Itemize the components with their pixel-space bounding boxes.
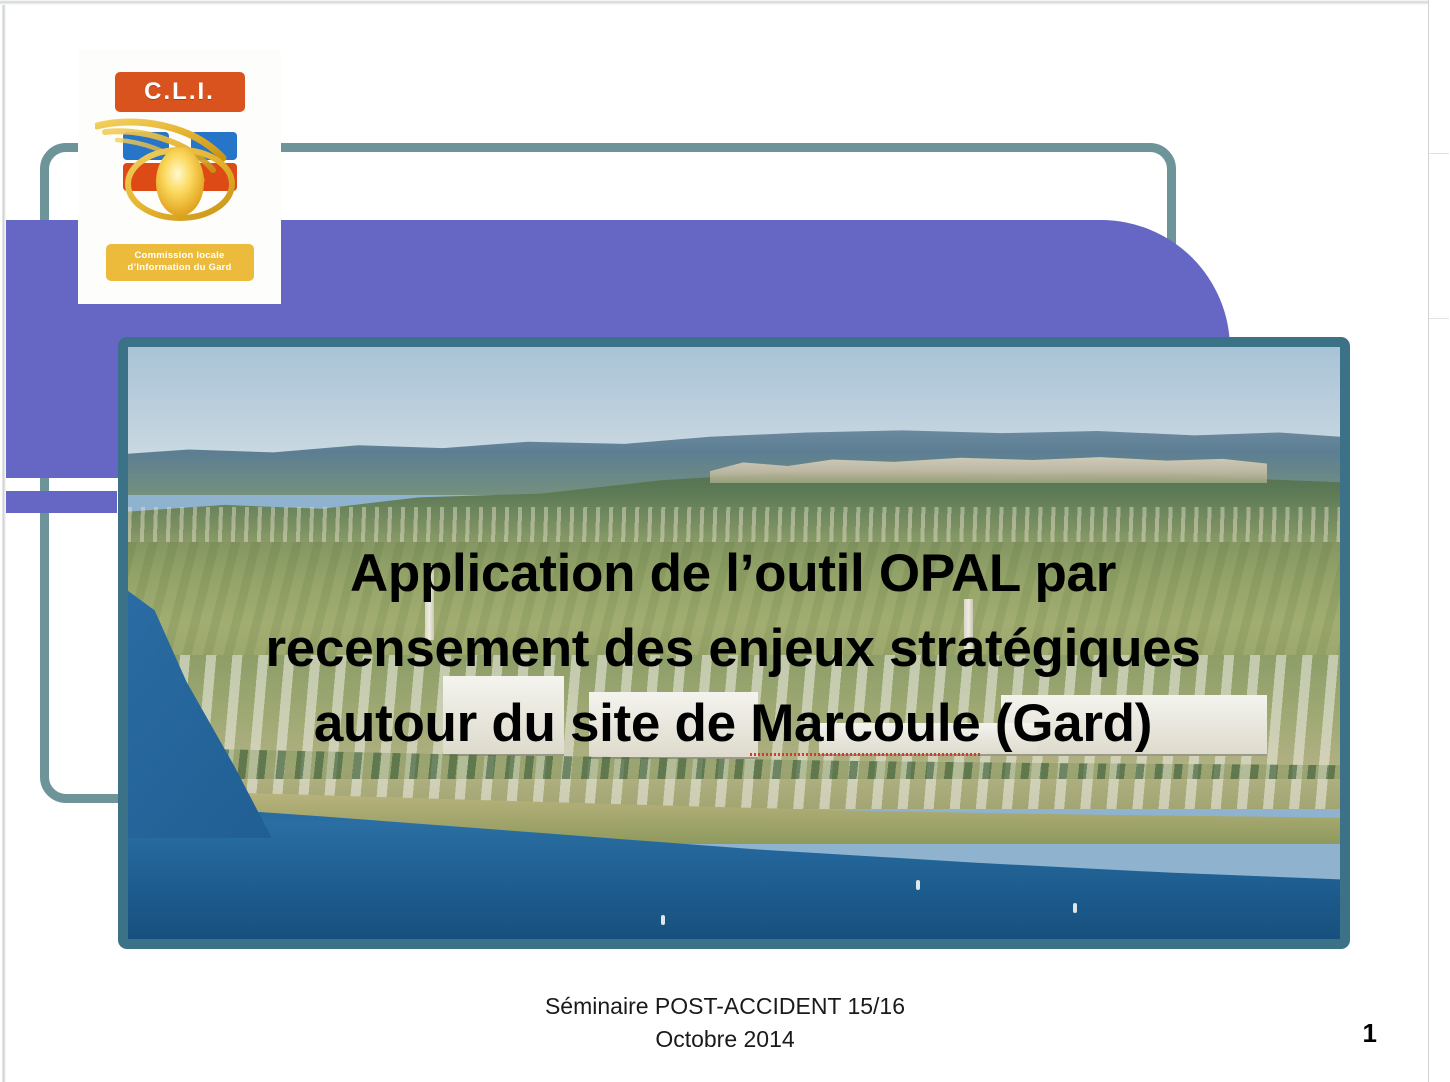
cli-badge: C.L.I.	[115, 72, 245, 112]
photo-boat-3	[661, 915, 665, 925]
cli-subtitle-line1: Commission locale	[135, 250, 225, 261]
title-spellchecked-word: Marcoule	[750, 694, 980, 756]
cli-subtitle: Commission locale d’Information du Gard	[106, 244, 254, 281]
logo-swoosh-icon	[95, 118, 265, 240]
slide-title: Application de l’outil OPAL par recensem…	[138, 536, 1328, 761]
slide-viewport: Application de l’outil OPAL par recensem…	[0, 0, 1450, 1082]
cli-emblem-icon	[95, 118, 265, 240]
cli-subtitle-line2: d’Information du Gard	[128, 262, 232, 273]
footer-line-2: Octobre 2014	[0, 1023, 1450, 1056]
slide-footer: Séminaire POST-ACCIDENT 15/16 Octobre 20…	[0, 990, 1450, 1056]
footer-line-1: Séminaire POST-ACCIDENT 15/16	[0, 990, 1450, 1023]
vertical-scrollbar[interactable]	[1428, 0, 1450, 1082]
document-left-edge	[0, 0, 6, 1082]
title-line-1: Application de l’outil OPAL par	[138, 536, 1328, 611]
scrollbar-thumb[interactable]	[1429, 0, 1449, 154]
photo-boat-1	[916, 880, 920, 890]
title-line-3-prefix: autour du site de	[314, 694, 750, 753]
document-top-edge	[0, 0, 1450, 5]
title-line-3: autour du site de Marcoule (Gard)	[138, 686, 1328, 761]
title-line-3-suffix: (Gard)	[980, 694, 1152, 753]
title-line-2: recensement des enjeux stratégiques	[138, 611, 1328, 686]
scrollbar-track-mark	[1429, 318, 1449, 319]
page-number: 1	[1363, 1018, 1377, 1049]
cli-logo-card: C.L.I.	[78, 50, 281, 304]
